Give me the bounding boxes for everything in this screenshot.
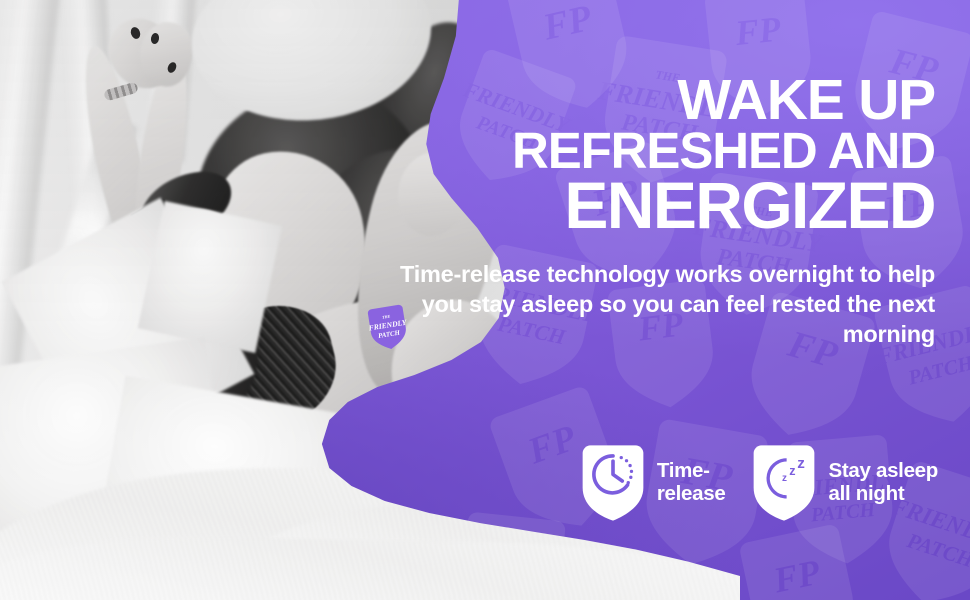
svg-text:FP: FP — [732, 9, 783, 54]
feature-time-release: Time- release — [580, 444, 726, 522]
svg-text:z: z — [798, 455, 806, 472]
headline-line-3: ENERGIZED — [375, 175, 935, 237]
feature-label: Stay asleep all night — [828, 460, 938, 506]
shield-badge — [580, 444, 646, 522]
shield-badge: z z z — [751, 444, 817, 522]
feature-label: Time- release — [657, 460, 726, 506]
copy-block: WAKE UP REFRESHED AND ENERGIZED Time-rel… — [375, 74, 935, 349]
body-copy: Time-release technology works overnight … — [375, 259, 935, 349]
headline-line-1: WAKE UP — [375, 74, 935, 127]
feature-badges: Time- release z z z Stay asleep all n — [580, 444, 938, 522]
feature-stay-asleep: z z z Stay asleep all night — [751, 444, 938, 522]
svg-text:z: z — [790, 464, 796, 478]
svg-text:z: z — [782, 473, 787, 484]
headline: WAKE UP REFRESHED AND ENERGIZED — [375, 74, 935, 237]
promo-banner: FP THEFRIENDLYPATCH FP FP FRIENDLYPATCH … — [0, 0, 970, 600]
